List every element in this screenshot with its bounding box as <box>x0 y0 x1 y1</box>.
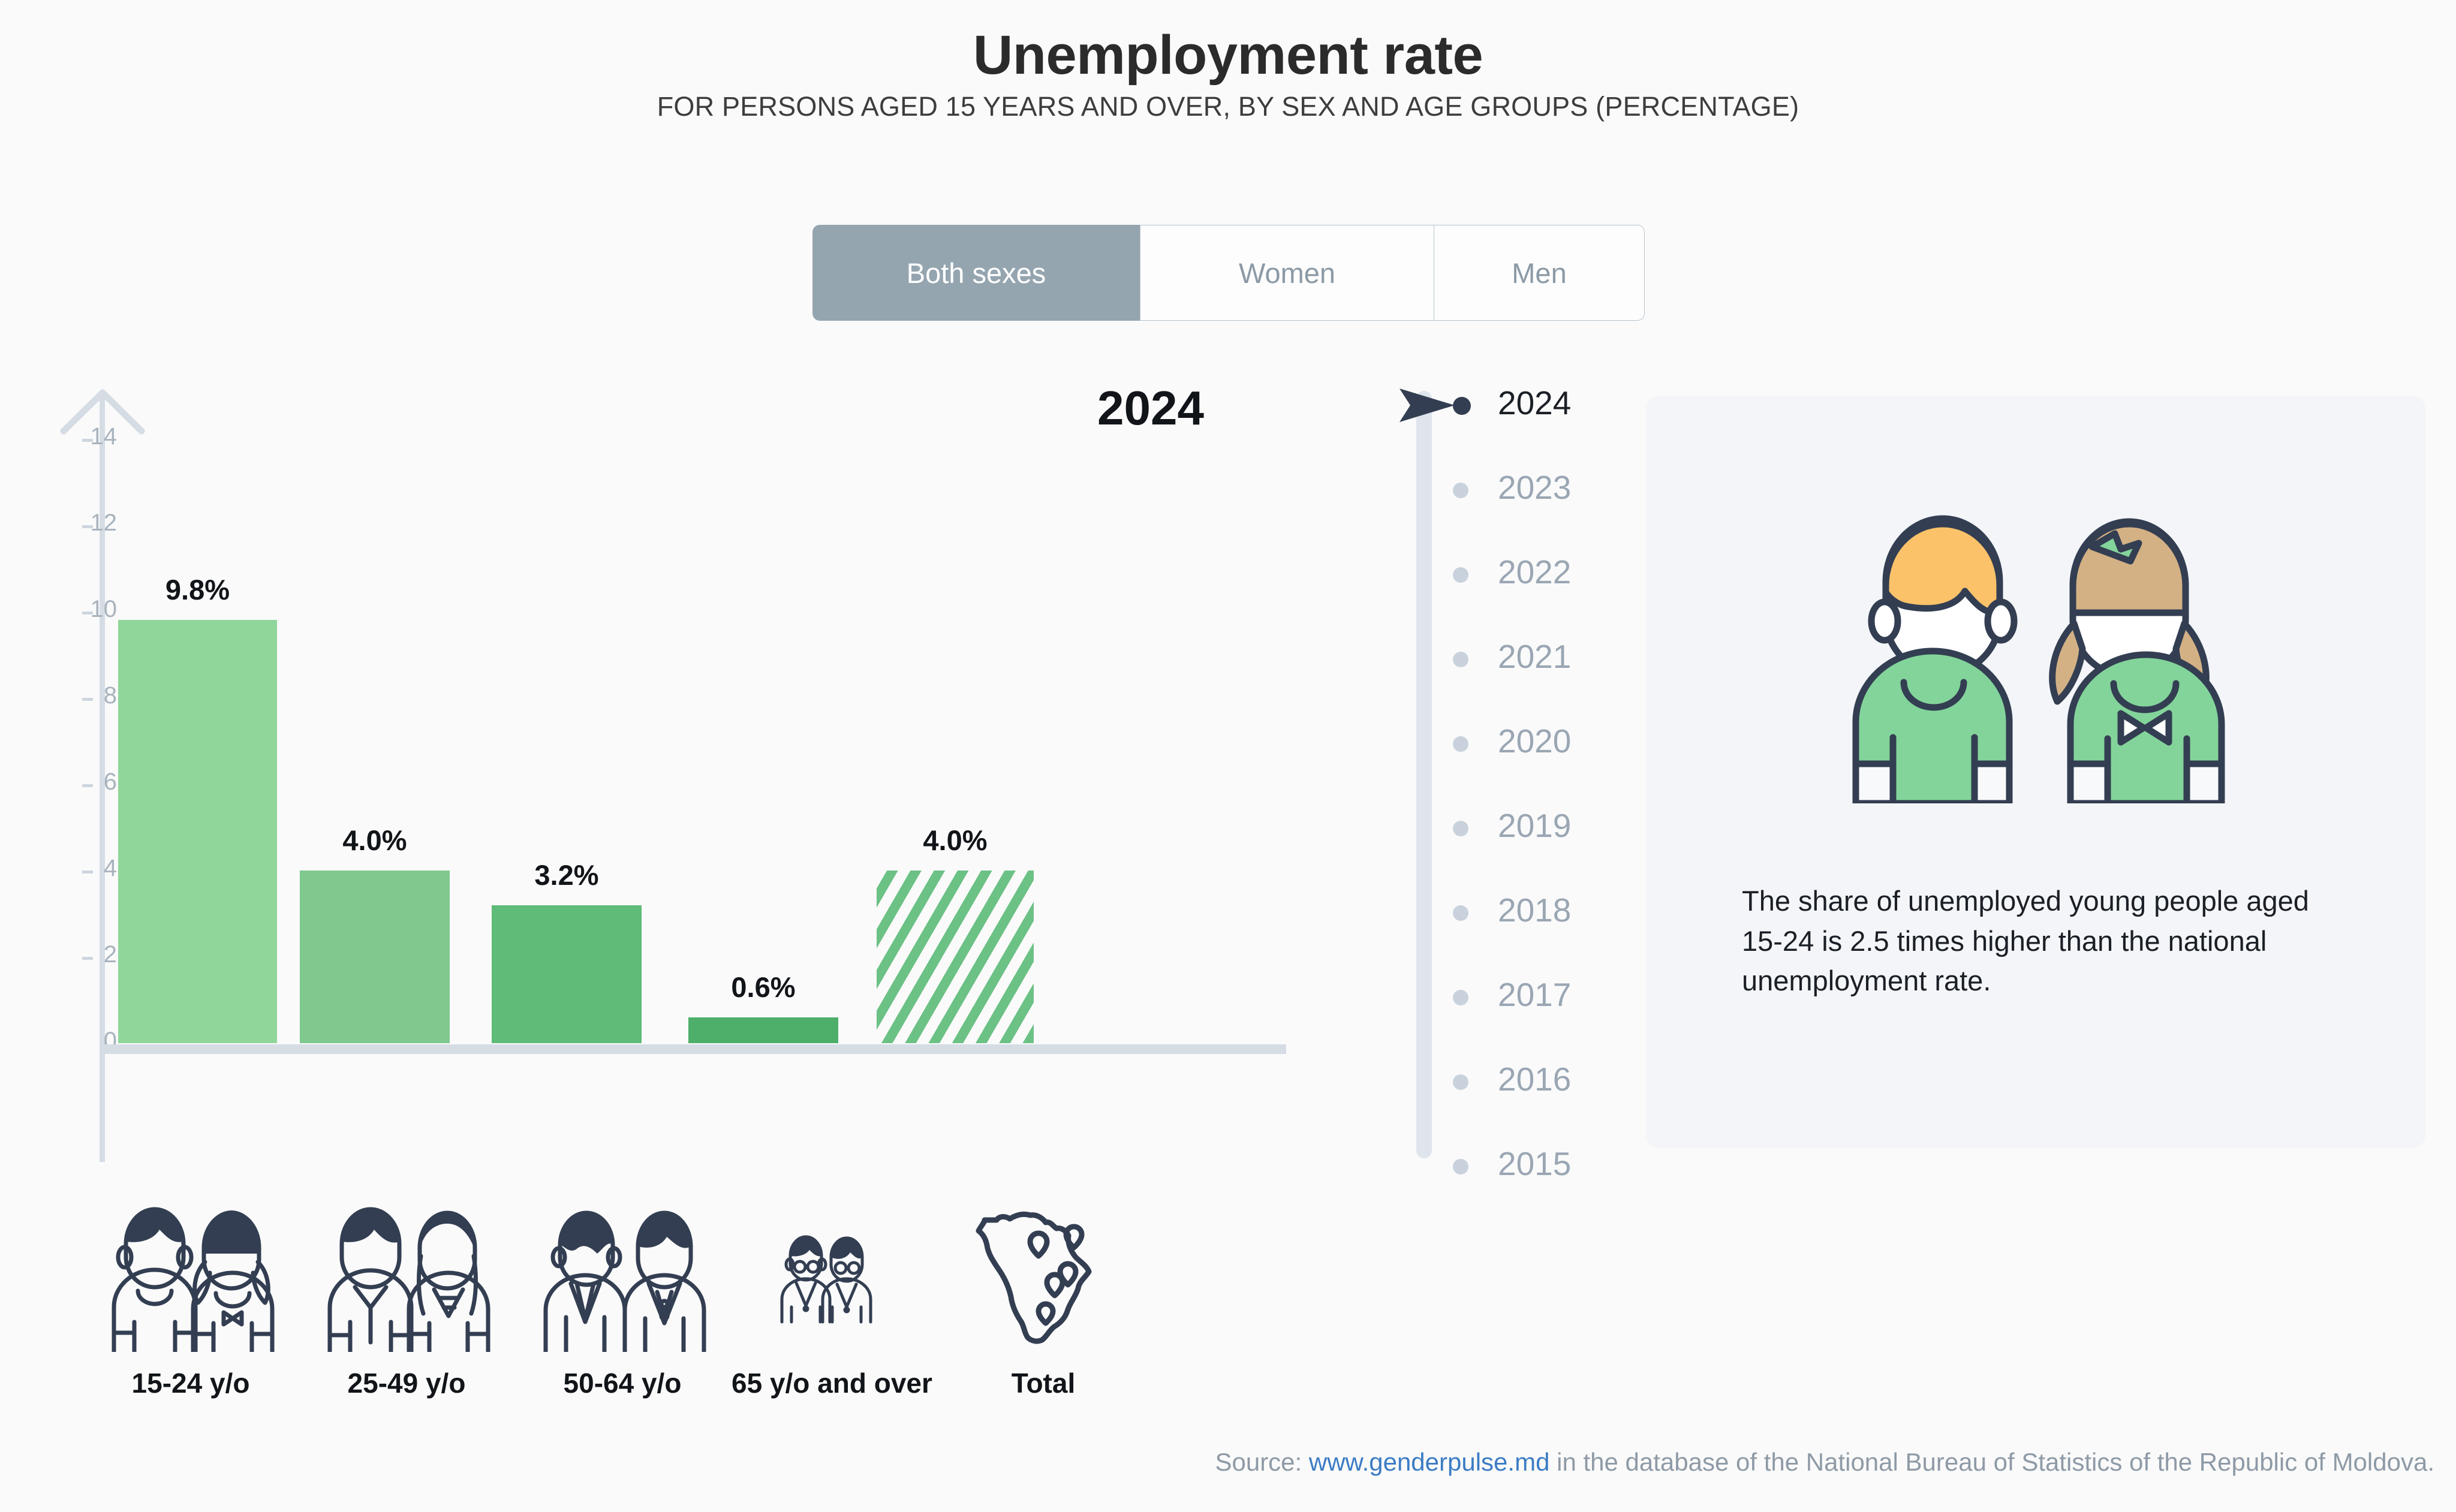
source-note: Source: www.genderpulse.md in the databa… <box>0 1448 2434 1477</box>
senior-working-couple-icon <box>532 1184 712 1352</box>
year-dot[interactable] <box>1453 567 1468 583</box>
year-dot[interactable] <box>1453 652 1468 667</box>
tab-men[interactable]: Men <box>1434 225 1645 321</box>
info-panel-text: The share of unemployed young people age… <box>1742 881 2347 1001</box>
year-label[interactable]: 2020 <box>1498 722 1571 760</box>
x-axis-baseline <box>102 1044 1286 1054</box>
source-suffix: in the database of the National Bureau o… <box>1549 1448 2434 1476</box>
young-couple-icon <box>101 1184 281 1352</box>
bar-chart: 2024 02468101214 9.8%4.0%3.2%0.6%4.0% <box>0 372 1379 1163</box>
bar-value-label-1: 9.8% <box>118 573 277 606</box>
bar-5[interactable] <box>877 871 1034 1043</box>
page-subtitle: FOR PERSONS AGED 15 YEARS AND OVER, BY S… <box>0 91 2456 122</box>
tab-women[interactable]: Women <box>1140 225 1434 321</box>
bar-2[interactable] <box>300 871 450 1043</box>
x-axis-categories: 15-24 y/o 25-49 y/o <box>0 1184 1379 1436</box>
year-label[interactable]: 2023 <box>1498 468 1571 507</box>
bar-value-label-3: 3.2% <box>492 859 642 891</box>
year-dot[interactable] <box>1453 990 1468 1005</box>
bar-3[interactable] <box>492 905 642 1043</box>
year-dot[interactable] <box>1453 397 1471 415</box>
adult-couple-icon <box>317 1184 496 1352</box>
source-link[interactable]: www.genderpulse.md <box>1309 1448 1550 1476</box>
category-label-25-49: 25-49 y/o <box>317 1367 496 1399</box>
year-label[interactable]: 2022 <box>1498 553 1571 591</box>
year-dot[interactable] <box>1453 736 1468 752</box>
year-dot[interactable] <box>1453 1074 1468 1090</box>
category-label-50-64: 50-64 y/o <box>532 1367 712 1399</box>
bar-value-label-5: 4.0% <box>877 824 1034 857</box>
bar-4[interactable] <box>688 1017 838 1043</box>
year-label[interactable]: 2019 <box>1498 806 1571 845</box>
moldova-map-icon <box>965 1184 1121 1352</box>
tab-both-sexes[interactable]: Both sexes <box>812 225 1140 321</box>
category-label-total: Total <box>959 1367 1127 1399</box>
bar-1[interactable] <box>118 620 277 1043</box>
category-label-15-24: 15-24 y/o <box>101 1367 281 1399</box>
year-label[interactable]: 2017 <box>1498 975 1571 1014</box>
year-dot[interactable] <box>1453 821 1468 836</box>
youth-couple-illustration <box>1850 510 2234 803</box>
page-title: Unemployment rate <box>0 24 2456 87</box>
year-dot[interactable] <box>1453 905 1468 921</box>
year-label[interactable]: 2018 <box>1498 891 1571 929</box>
info-panel: The share of unemployed young people age… <box>1646 396 2425 1148</box>
bar-value-label-2: 4.0% <box>300 824 450 857</box>
category-label-65-over: 65 y/o and over <box>732 1367 917 1399</box>
year-label[interactable]: 2024 <box>1498 384 1571 422</box>
year-label[interactable]: 2015 <box>1498 1144 1571 1183</box>
sex-tab-group[interactable]: Both sexes Women Men <box>812 225 1645 321</box>
year-dot[interactable] <box>1453 1159 1468 1174</box>
bar-value-label-4: 0.6% <box>688 971 838 1004</box>
year-label[interactable]: 2021 <box>1498 637 1571 676</box>
year-dot[interactable] <box>1453 483 1468 498</box>
year-option-2015[interactable]: 2015 <box>1391 1148 1727 1184</box>
year-label[interactable]: 2016 <box>1498 1060 1571 1098</box>
elderly-couple-icon <box>773 1184 875 1352</box>
source-prefix: Source: <box>1215 1448 1308 1476</box>
